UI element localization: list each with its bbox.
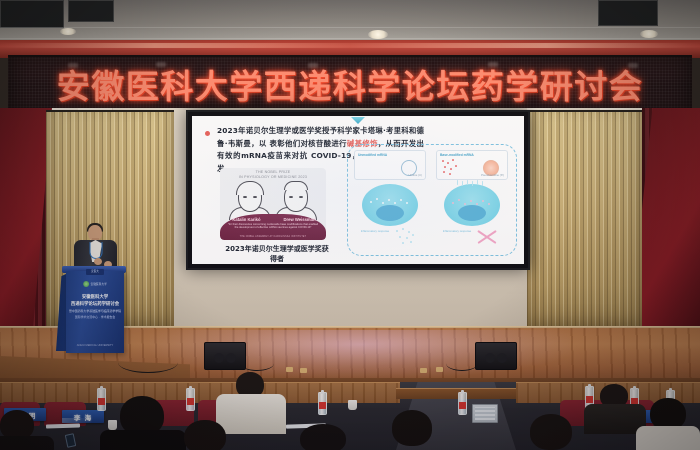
diagram-box: Unmodified mRNA Uridine (U): [354, 150, 426, 180]
mrna-diagram: Unmodified mRNA Uridine (U) Inflammatory…: [347, 144, 517, 256]
slide-caption: 2023年诺贝尔生理学或医学奖获得者: [222, 244, 332, 264]
stage-monitor-speaker-left: [204, 342, 246, 370]
person-head: [530, 414, 572, 450]
ceiling-panel: [68, 0, 114, 22]
ceiling-seam: [0, 27, 700, 28]
ceiling-panel: [598, 0, 658, 26]
laureate-name-2: Drew Weissman: [273, 217, 326, 222]
university-emblem-icon: [83, 281, 89, 287]
diagram-right-response-label: Inflammatory response: [440, 230, 474, 233]
water-bottle: [458, 392, 467, 415]
diagram-right-title: Base-modified mRNA: [440, 153, 474, 157]
cable-tape: [286, 367, 293, 372]
projection-screen: 2023年诺贝尔生理学或医学奖授予科学家卡塔琳·考里科和德鲁·韦斯曼，以 表彰他…: [186, 110, 530, 270]
diagram-box: Base-modified mRNA Pseudouridine (Ψ): [436, 150, 508, 180]
nobel-header-line-2: IN PHYSIOLOGY OR MEDICINE 2023: [220, 175, 326, 180]
led-banner: 安徽医科大学西递科学论坛药学研讨会: [8, 55, 692, 113]
base-modification-dots-icon: [441, 159, 467, 175]
nameplate: 李 海: [62, 410, 104, 423]
audience-desk-row: [396, 388, 516, 399]
paper-cup: [348, 400, 357, 410]
portrait-eye: [253, 196, 257, 198]
audio-cable: [240, 356, 274, 371]
laptop[interactable]: [472, 404, 498, 423]
person-torso: [216, 394, 286, 434]
slide-bullet-icon: [205, 131, 210, 136]
diagram-left-response-label: Inflammatory response: [358, 230, 392, 233]
podium-title-line-1: 安徽医科大学: [82, 294, 108, 300]
ceiling-light: [640, 30, 658, 38]
podium-footer-text: ANHUI MEDICAL UNIVERSITY: [77, 344, 114, 347]
nobel-citation-text: "for their discoveries concerning nucleo…: [226, 223, 320, 230]
ceiling-light: [368, 30, 388, 39]
speaker-hand: [94, 258, 102, 265]
laureate-names: Katalin Karikó Drew Weissman: [220, 217, 326, 222]
cell-illustration: [362, 184, 418, 226]
podium-cable: [118, 352, 178, 373]
slide-marker-icon: [351, 117, 365, 124]
ceiling-panel: [0, 0, 64, 28]
person-head: [184, 420, 226, 450]
podium-title-line-3: 暨中国药科大学基础医学与临床药学学院: [69, 309, 121, 313]
diagram-column-modified: Base-modified mRNA Pseudouridine (Ψ): [436, 150, 508, 180]
presentation-slide: 2023年诺贝尔生理学或医学奖授予科学家卡塔琳·考里科和德鲁·韦斯曼，以 表彰他…: [192, 116, 524, 264]
person-torso: [0, 436, 54, 450]
water-bottle: [97, 388, 106, 411]
diagram-left-sub: Uridine (U): [408, 173, 422, 177]
cable-tape: [436, 367, 443, 372]
portrait-hair: [236, 181, 264, 195]
podium-title-line-2: 西递科学论坛药学研讨会: [71, 301, 119, 307]
portrait-eye: [243, 196, 247, 198]
podium: 安医大 安徽医科大学 安徽医科大学 西递科学论坛药学研讨会 暨中国药科大学基础医…: [66, 271, 124, 353]
diagram-left-title: Unmodified mRNA: [358, 153, 387, 157]
cell-nucleus: [376, 205, 404, 221]
water-bottle: [186, 388, 195, 411]
ceiling-seam: [0, 38, 700, 39]
nobel-prize-card: THE NOBEL PRIZE IN PHYSIOLOGY OR MEDICIN…: [220, 168, 326, 240]
person-torso: [636, 426, 700, 450]
portrait-eye: [289, 196, 293, 198]
nameplate-gloss: [62, 418, 104, 423]
slide-line-2: 表彰他们对核苷酸进行: [270, 139, 347, 148]
nobel-citation-banner: Katalin Karikó Drew Weissman "for their …: [220, 214, 326, 240]
ceiling-light: [60, 28, 76, 35]
podium-mic-badge: 安医大: [86, 269, 104, 275]
water-bottle: [318, 392, 327, 415]
speaker-lanyard: [89, 242, 102, 259]
spark-icon: [455, 180, 489, 190]
cell-illustration: [444, 184, 500, 226]
audio-cable: [446, 356, 478, 371]
gold-curtain-right: [527, 112, 642, 334]
podium-logo: 安徽医科大学: [83, 281, 107, 287]
person-torso: [100, 430, 186, 450]
portrait-eye: [299, 196, 303, 198]
diagram-column-unmodified: Unmodified mRNA Uridine (U) Inflammatory…: [354, 150, 426, 180]
cable-tape: [420, 368, 427, 373]
podium-title-line-4: 国际学术交流中心 · 学术报告会: [75, 315, 115, 319]
portrait-hair: [284, 181, 308, 190]
inflammation-burst-icon: [394, 228, 418, 246]
person-head: [300, 424, 346, 450]
stage-monitor-speaker-right: [475, 342, 517, 370]
laureate-name-1: Katalin Karikó: [220, 217, 273, 222]
person-head: [392, 410, 432, 446]
podium-logo-text: 安徽医科大学: [91, 282, 107, 286]
led-banner-text: 安徽医科大学西递科学论坛药学研讨会: [8, 60, 692, 108]
nobel-assembly-footer: THE NOBEL ASSEMBLY AT KAROLINSKA INSTITU…: [220, 236, 326, 238]
auditorium-photo: 安徽医科大学西递科学论坛药学研讨会 2023年诺贝尔生理学或医学奖授予科学家卡塔…: [0, 0, 700, 450]
cell-nucleus: [458, 205, 486, 221]
paper-cup: [108, 420, 117, 430]
cable-tape: [300, 368, 307, 373]
diagram-right-sub: Pseudouridine (Ψ): [481, 173, 504, 177]
no-inflammation-cross-icon: [476, 228, 498, 246]
